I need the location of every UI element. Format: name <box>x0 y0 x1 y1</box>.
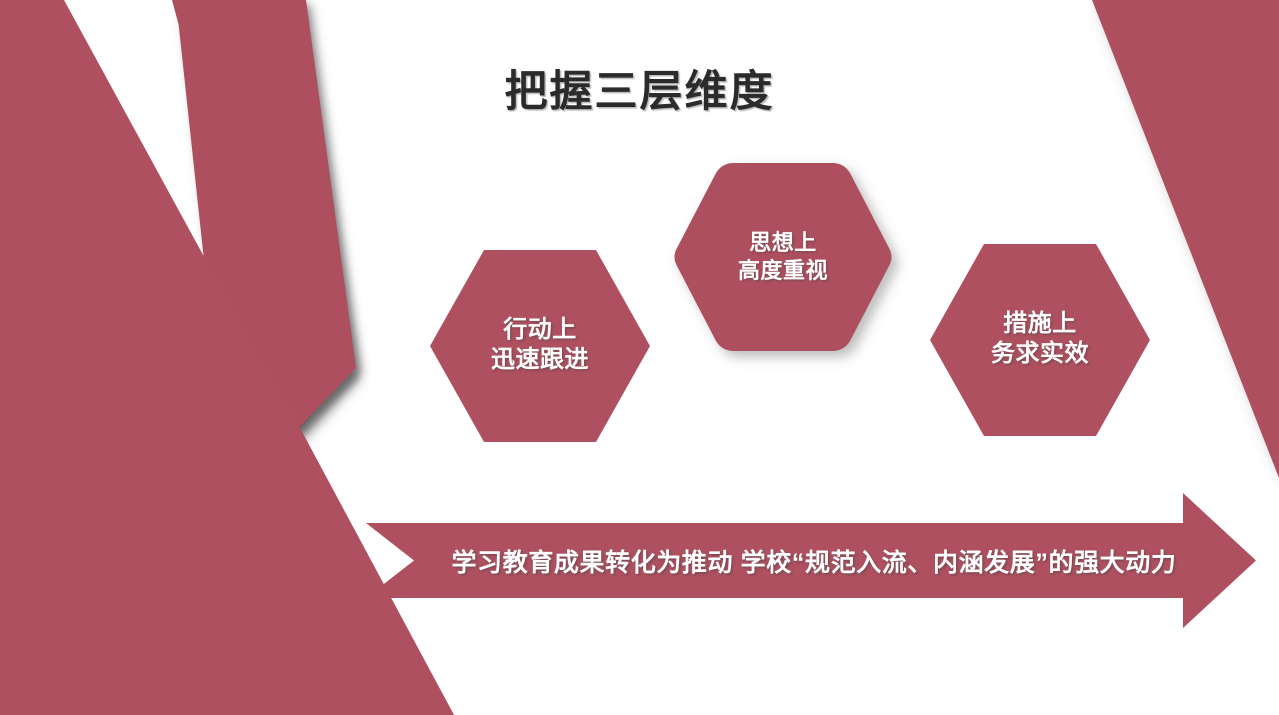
hexagon-thought[interactable]: 思想上 高度重视 <box>672 160 894 354</box>
slide-canvas: 把握三层维度 行动上 迅速跟进 思想上 高度重视 措施上 务求实效 学习教育成果… <box>0 0 1279 715</box>
hexagon-label-action: 行动上 迅速跟进 <box>491 315 589 377</box>
hexagon-label-measures: 措施上 务求实效 <box>991 309 1089 371</box>
page-title: 把握三层维度 <box>0 57 1279 119</box>
hexagon-action[interactable]: 行动上 迅速跟进 <box>428 248 652 444</box>
arrow-banner-text: 学习教育成果转化为推动 学校“规范入流、内涵发展”的强大动力 <box>414 488 1214 633</box>
hexagon-label-thought: 思想上 高度重视 <box>738 229 828 284</box>
arrow-banner[interactable]: 学习教育成果转化为推动 学校“规范入流、内涵发展”的强大动力 <box>366 488 1258 633</box>
hexagon-measures[interactable]: 措施上 务求实效 <box>928 242 1152 438</box>
